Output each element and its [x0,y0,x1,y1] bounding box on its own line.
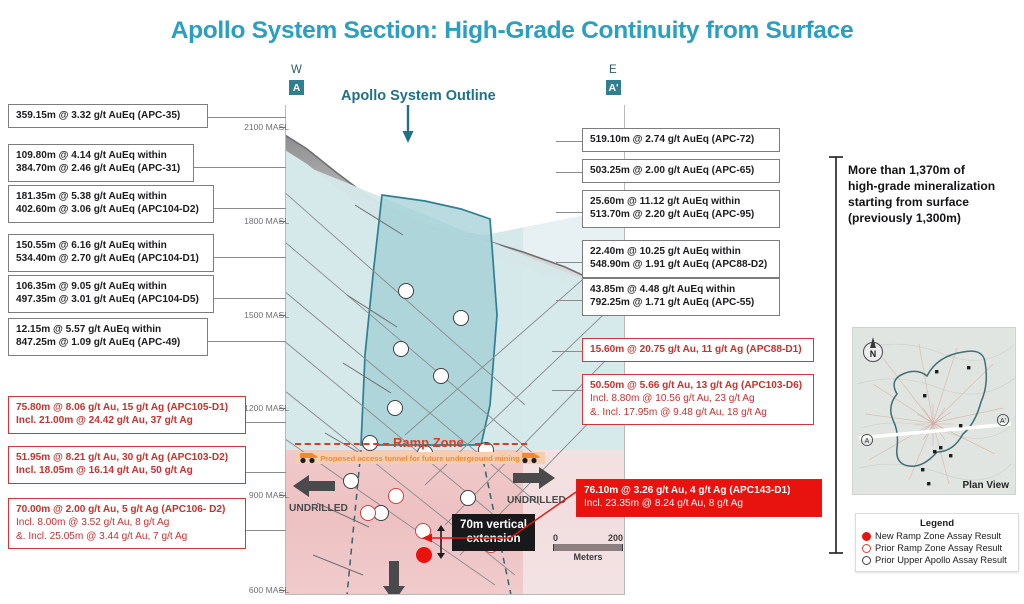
legend-marker-new-ramp-icon [862,532,871,541]
legend-label-prior-upper: Prior Upper Apollo Assay Result [875,555,1007,565]
legend-item-new-ramp: New Ramp Zone Assay Result [862,531,1012,541]
section-figure: Apollo System Section: High-Grade Contin… [0,0,1024,604]
leader-right-2 [556,172,582,173]
callout-left-7: 75.80m @ 8.06 g/t Au, 15 g/t Ag (APC105-… [8,396,246,434]
mineralization-extent-bracket [828,155,844,555]
haul-truck-icon-right [519,450,541,465]
drill-marker-upper-1[interactable] [398,283,414,299]
haul-truck-icon-left [297,450,319,465]
callout-left-3-line2: 402.60m @ 3.06 g/t AuEq (APC104-D2) [16,203,206,216]
frame-edge-left [285,105,286,595]
callout-left-8-line1: 51.95m @ 8.21 g/t Au, 30 g/t Ag (APC103-… [16,451,238,464]
leader-left-1 [208,117,286,118]
section-tag-a-prime: A' [606,80,621,95]
callout-right-7-line1: 50.50m @ 5.66 g/t Au, 13 g/t Ag (APC103-… [590,379,806,392]
apollo-outline-pointer [401,105,415,145]
leader-right-5 [556,300,582,301]
note-line1: More than 1,370m of [848,163,1018,179]
drill-marker-ramp-prior-3[interactable] [360,505,376,521]
note-line4: (previously 1,300m) [848,211,1018,227]
leader-left-3 [214,208,286,209]
undrilled-arrow-bottom [381,560,407,595]
scale-bar-graphic [553,544,623,551]
callout-left-9-line2: Incl. 8.00m @ 3.52 g/t Au, 8 g/t Ag [16,516,238,529]
callout-left-1-line1: 359.15m @ 3.32 g/t AuEq (APC-35) [16,109,200,122]
scale-bar: 0 200 Meters [553,533,623,562]
ramp-zone-label: Ramp Zone [393,435,464,450]
leader-left-5 [214,298,286,299]
callout-left-4-line2: 534.40m @ 2.70 g/t AuEq (APC104-D1) [16,252,206,265]
ramp-zone-dash-right [475,443,527,445]
callout-left-3: 181.35m @ 5.38 g/t AuEq within 402.60m @… [8,185,214,223]
callout-right-4-line2: 548.90m @ 1.91 g/t AuEq (APC88-D2) [590,258,772,271]
callout-right-7-line2: Incl. 8.80m @ 10.56 g/t Au, 23 g/t Ag [590,392,806,405]
callout-left-6-line1: 12.15m @ 5.57 g/t AuEq within [16,323,200,336]
legend-marker-prior-ramp-icon [862,544,871,553]
drill-marker-upper-2[interactable] [393,341,409,357]
callout-left-5-line2: 497.35m @ 3.01 g/t AuEq (APC104-D5) [16,293,206,306]
note-line2: high-grade mineralization [848,179,1018,195]
note-line3: starting from surface [848,195,1018,211]
svg-text:A': A' [1000,418,1006,425]
proposed-tunnel-band: Proposed access tunnel for future underg… [295,452,545,464]
callout-left-7-line2: Incl. 21.00m @ 24.42 g/t Au, 37 g/t Ag [16,414,238,427]
legend-marker-prior-upper-icon [862,556,871,565]
leader-right-7 [552,390,582,391]
undrilled-label-left: UNDRILLED [289,503,348,514]
callout-left-4-line1: 150.55m @ 6.16 g/t AuEq within [16,239,206,252]
svg-text:N: N [870,349,877,359]
leader-left-8 [246,472,286,473]
elevation-tick-1500 [279,315,286,316]
callout-right-8-line2: Incl. 23.35m @ 8.24 g/t Au, 8 g/t Ag [584,497,814,510]
callout-left-3-line1: 181.35m @ 5.38 g/t AuEq within [16,190,206,203]
callout-left-6-line2: 847.25m @ 1.09 g/t AuEq (APC-49) [16,336,200,349]
leader-left-9 [246,530,286,531]
west-direction-label: W [291,64,302,76]
callout-left-2-line2: 384.70m @ 2.46 g/t AuEq (APC-31) [16,162,186,175]
elevation-tick-1200 [279,408,286,409]
svg-text:A: A [865,438,870,445]
callout-right-8-line1: 76.10m @ 3.26 g/t Au, 4 g/t Ag (APC143-D… [584,484,814,497]
callout-left-4: 150.55m @ 6.16 g/t AuEq within 534.40m @… [8,234,214,272]
drill-marker-ramp-prior-2[interactable] [388,488,404,504]
callout-left-5-line1: 106.35m @ 9.05 g/t AuEq within [16,280,206,293]
callout-right-5-line2: 792.25m @ 1.71 g/t AuEq (APC-55) [590,296,772,309]
drill-marker-upper-5[interactable] [343,473,359,489]
legend-item-prior-ramp: Prior Ramp Zone Assay Result [862,543,1012,553]
elevation-tick-600 [279,590,286,591]
callout-left-6: 12.15m @ 5.57 g/t AuEq within 847.25m @ … [8,318,208,356]
callout-right-1: 519.10m @ 2.74 g/t AuEq (APC-72) [582,128,780,152]
scale-min: 0 [553,533,558,543]
elevation-tick-2100 [279,127,286,128]
east-direction-label: E [609,64,617,76]
leader-right-3 [556,212,582,213]
proposed-tunnel-label: Proposed access tunnel for future underg… [320,454,520,463]
callout-right-6: 15.60m @ 20.75 g/t Au, 11 g/t Ag (APC88-… [582,338,814,362]
drill-marker-upper-8[interactable] [433,368,449,384]
scale-max: 200 [608,533,623,543]
callout-right-3: 25.60m @ 11.12 g/t AuEq within 513.70m @… [582,190,780,228]
callout-right-3-line1: 25.60m @ 11.12 g/t AuEq within [590,195,772,208]
callout-left-9-line3: &. Incl. 25.05m @ 3.44 g/t Au, 7 g/t Ag [16,530,238,543]
legend-item-prior-upper: Prior Upper Apollo Assay Result [862,555,1012,565]
section-tag-a: A [289,80,304,95]
page-title: Apollo System Section: High-Grade Contin… [0,17,1024,45]
callout-left-5: 106.35m @ 9.05 g/t AuEq within 497.35m @… [8,275,214,313]
plan-view-caption: Plan View [962,480,1009,491]
callout-right-5-line1: 43.85m @ 4.48 g/t AuEq within [590,283,772,296]
mineralization-extent-note: More than 1,370m of high-grade mineraliz… [848,163,1018,227]
undrilled-arrow-left [293,473,337,499]
callout-right-4: 22.40m @ 10.25 g/t AuEq within 548.90m @… [582,240,780,278]
callout-left-2: 109.80m @ 4.14 g/t AuEq within 384.70m @… [8,144,194,182]
plan-view-inset[interactable]: N A A' Plan View [852,327,1016,495]
elevation-tick-1800 [279,221,286,222]
leader-right-1 [556,141,582,142]
callout-right-1-line1: 519.10m @ 2.74 g/t AuEq (APC-72) [590,133,772,146]
callout-right-7-line3: &. Incl. 17.95m @ 9.48 g/t Au, 18 g/t Ag [590,406,806,419]
legend-label-prior-ramp: Prior Ramp Zone Assay Result [875,543,1002,553]
leader-right-6 [552,351,582,352]
callout-left-1: 359.15m @ 3.32 g/t AuEq (APC-35) [8,104,208,128]
drill-marker-upper-3[interactable] [387,400,403,416]
plan-view-graphic: N A A' [853,328,1016,495]
callout-left-2-line1: 109.80m @ 4.14 g/t AuEq within [16,149,186,162]
elevation-tick-900 [279,495,286,496]
ramp-zone-dash-left [295,443,389,445]
callout-right-2: 503.25m @ 2.00 g/t AuEq (APC-65) [582,159,780,183]
leader-right-4 [556,262,582,263]
callout-left-9: 70.00m @ 2.00 g/t Au, 5 g/t Ag (APC106- … [8,498,246,549]
leader-left-4 [214,257,286,258]
callout-right-2-line1: 503.25m @ 2.00 g/t AuEq (APC-65) [590,164,772,177]
drill-marker-upper-7[interactable] [453,310,469,326]
frame-edge-bottom [285,594,625,595]
callout-left-9-line1: 70.00m @ 2.00 g/t Au, 5 g/t Ag (APC106- … [16,503,238,516]
leader-left-6 [208,341,286,342]
leader-left-2 [194,167,286,168]
callout-right-3-line2: 513.70m @ 2.20 g/t AuEq (APC-95) [590,208,772,221]
apollo-outline-label: Apollo System Outline [341,88,496,104]
callout-right-4-line1: 22.40m @ 10.25 g/t AuEq within [590,245,772,258]
callout-left-8: 51.95m @ 8.21 g/t Au, 30 g/t Ag (APC103-… [8,446,246,484]
legend-panel: Legend New Ramp Zone Assay Result Prior … [855,513,1019,572]
callout-right-6-line1: 15.60m @ 20.75 g/t Au, 11 g/t Ag (APC88-… [590,343,806,356]
callout-left-7-line1: 75.80m @ 8.06 g/t Au, 15 g/t Ag (APC105-… [16,401,238,414]
legend-label-new-ramp: New Ramp Zone Assay Result [875,531,1001,541]
leader-left-7 [246,422,286,423]
legend-title: Legend [862,518,1012,529]
callout-right-7: 50.50m @ 5.66 g/t Au, 13 g/t Ag (APC103-… [582,374,814,425]
callout-left-8-line2: Incl. 18.05m @ 16.14 g/t Au, 50 g/t Ag [16,464,238,477]
undrilled-arrow-right [511,465,555,491]
scale-units: Meters [553,552,623,562]
callout-right-5: 43.85m @ 4.48 g/t AuEq within 792.25m @ … [582,278,780,316]
callout-right-8-new-result: 76.10m @ 3.26 g/t Au, 4 g/t Ag (APC143-D… [576,479,822,517]
